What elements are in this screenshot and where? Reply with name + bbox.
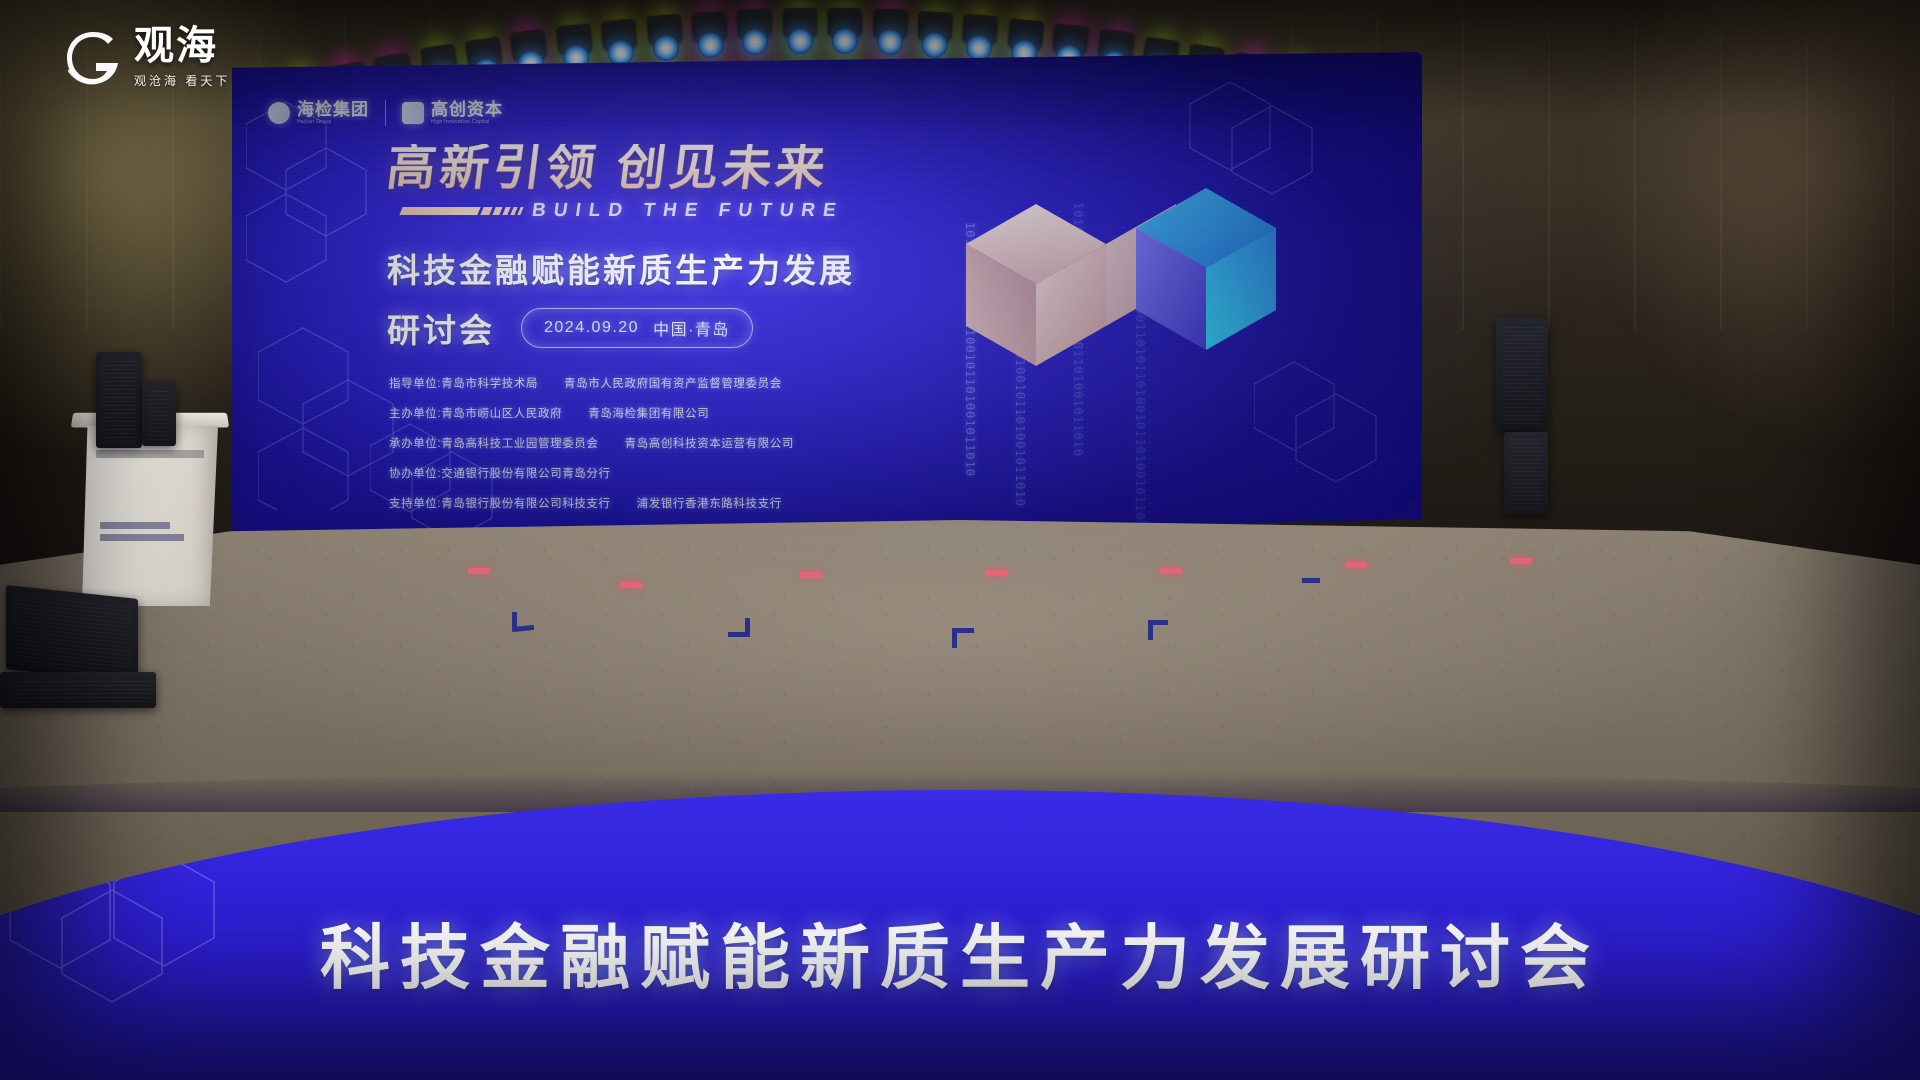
speaker-riser (0, 672, 156, 708)
floor-marker (1345, 562, 1367, 568)
speaker-cabinet (142, 382, 176, 446)
banner-title: 科技金融赋能新质生产力发展研讨会 (320, 902, 1600, 1003)
stage-scene: 1010011010110100101101001011010 10100110… (0, 0, 1920, 1080)
floor-marker (985, 570, 1007, 576)
speaker-cabinet (96, 352, 142, 448)
speaker-cabinet (1504, 432, 1548, 514)
channel-watermark: 观海 观沧海 看天下 (62, 26, 230, 89)
floor-marker (620, 582, 642, 588)
floor-marker (800, 572, 822, 578)
podium-header-strip (96, 450, 204, 458)
podium-body (82, 426, 218, 606)
screen-vignette (232, 52, 1422, 544)
speaker-cabinet (1496, 318, 1548, 430)
channel-name: 观海 (134, 26, 230, 66)
podium-title-line-1 (100, 522, 170, 529)
floor-marker (1160, 568, 1182, 574)
brush-circle-g-logo-icon (62, 27, 124, 89)
light-lens-icon (787, 28, 813, 54)
podium-title-line-2 (100, 534, 184, 541)
floor-tape-mark (745, 618, 750, 636)
speaker-monitor (6, 585, 138, 683)
channel-slogan: 观沧海 看天下 (134, 72, 230, 89)
floor-tape-mark (512, 612, 517, 630)
floor-tape-mark (1148, 620, 1168, 625)
led-backdrop-screen: 1010011010110100101101001011010 10100110… (232, 52, 1422, 544)
floor-tape-mark (1302, 578, 1320, 583)
floor-marker (1510, 558, 1532, 564)
floor-tape-mark (952, 628, 974, 633)
floor-marker (468, 568, 490, 574)
